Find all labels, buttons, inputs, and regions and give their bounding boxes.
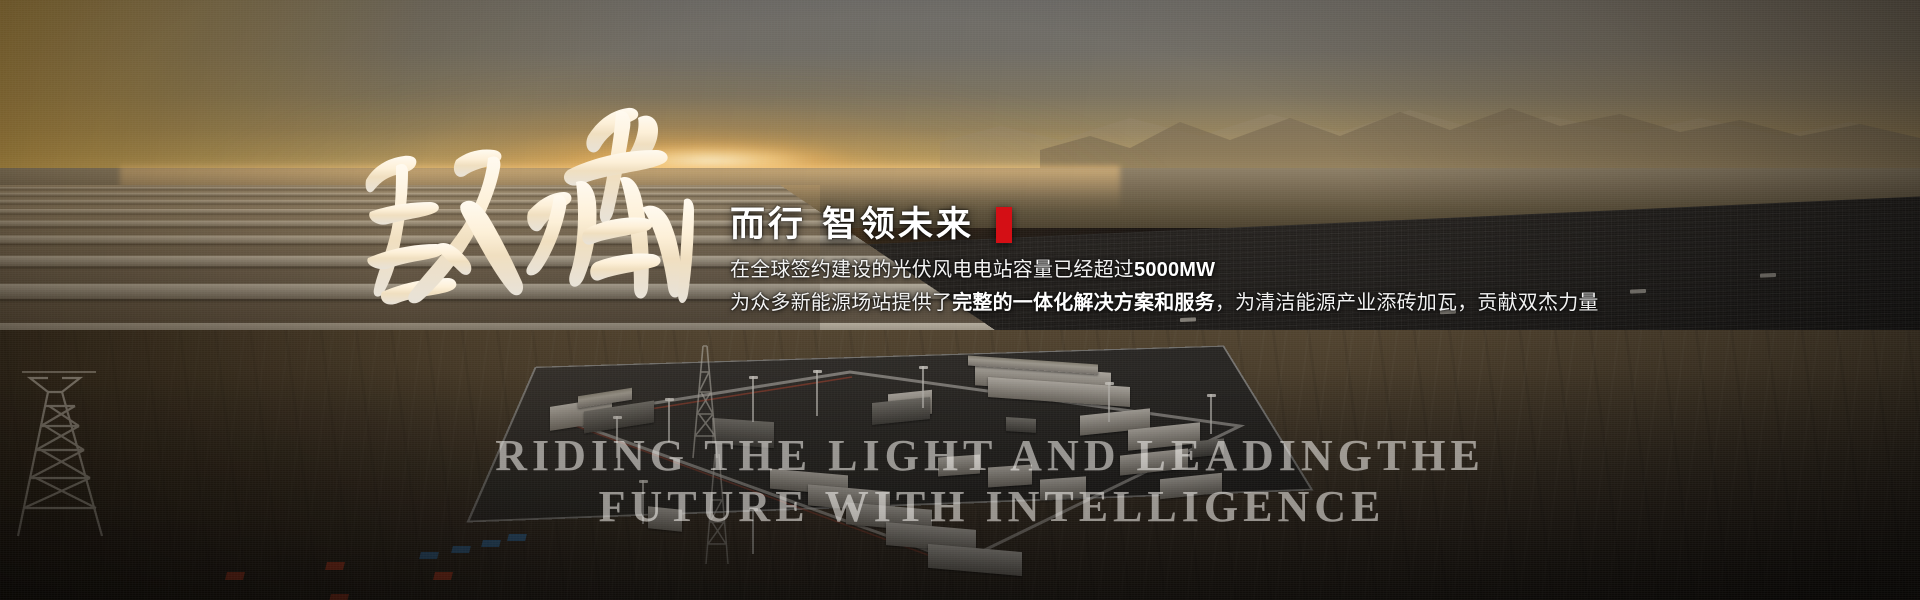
subtitle-capacity-value: 5000MW (1134, 259, 1215, 281)
yard-light-pole (752, 376, 754, 422)
headline-part1: 而行 (730, 205, 806, 246)
yard-light-pole (1108, 382, 1110, 422)
battery-container (1040, 476, 1086, 500)
panel-service-unit (1760, 273, 1776, 278)
equipment-cabinet (1192, 438, 1224, 457)
site-flag (225, 572, 245, 580)
hero-banner: 而行 智领未来 在全球签约建设的光伏风电电站容量已经超过5000MW 为众多新能… (0, 0, 1920, 600)
gatehouse (648, 506, 682, 532)
site-flag (325, 562, 345, 570)
subtitle-line-1: 在全球签约建设的光伏风电电站容量已经超过5000MW (730, 255, 1590, 286)
yard-light-pole (816, 370, 818, 416)
yard-light-pole (752, 508, 754, 554)
site-flag (433, 572, 453, 580)
site-flag (507, 534, 527, 541)
yard-light-pole (668, 398, 670, 442)
battery-storage-compound (520, 330, 1280, 580)
equipment-cabinet (1006, 417, 1036, 433)
panel-service-unit (1630, 289, 1646, 294)
site-flag (451, 546, 471, 553)
battery-container (988, 464, 1032, 487)
subtitle-line-2: 为众多新能源场站提供了完整的一体化解决方案和服务，为清洁能源产业添砖加瓦，贡献双… (730, 288, 1590, 319)
yard-light-pole (642, 480, 644, 524)
transmission-tower-icon (0, 358, 120, 538)
yard-light-pole (922, 366, 924, 408)
subtitle-line2-highlight: 完整的一体化解决方案和服务 (952, 292, 1215, 314)
accent-bar (996, 207, 1012, 243)
subtitle-line2-suffix: ，为清洁能源产业添砖加瓦，贡献双杰力量 (1215, 292, 1599, 314)
yard-lattice-pylon (688, 340, 722, 460)
site-flag (481, 540, 501, 547)
yard-lattice-pylon (702, 450, 732, 566)
headline-part2: 智领未来 (822, 205, 974, 246)
battery-container (938, 455, 980, 477)
yard-light-pole (1210, 394, 1212, 434)
site-flag (419, 552, 439, 559)
subtitle-line2-prefix: 为众多新能源场站提供了 (730, 292, 952, 314)
headline: 而行 智领未来 (730, 205, 1590, 246)
site-flag (329, 594, 349, 600)
subtitle-line1-prefix: 在全球签约建设的光伏风电电站容量已经超过 (730, 259, 1134, 281)
hero-copy: 而行 智领未来 在全球签约建设的光伏风电电站容量已经超过5000MW 为众多新能… (730, 205, 1590, 319)
yard-light-pole (616, 416, 618, 458)
